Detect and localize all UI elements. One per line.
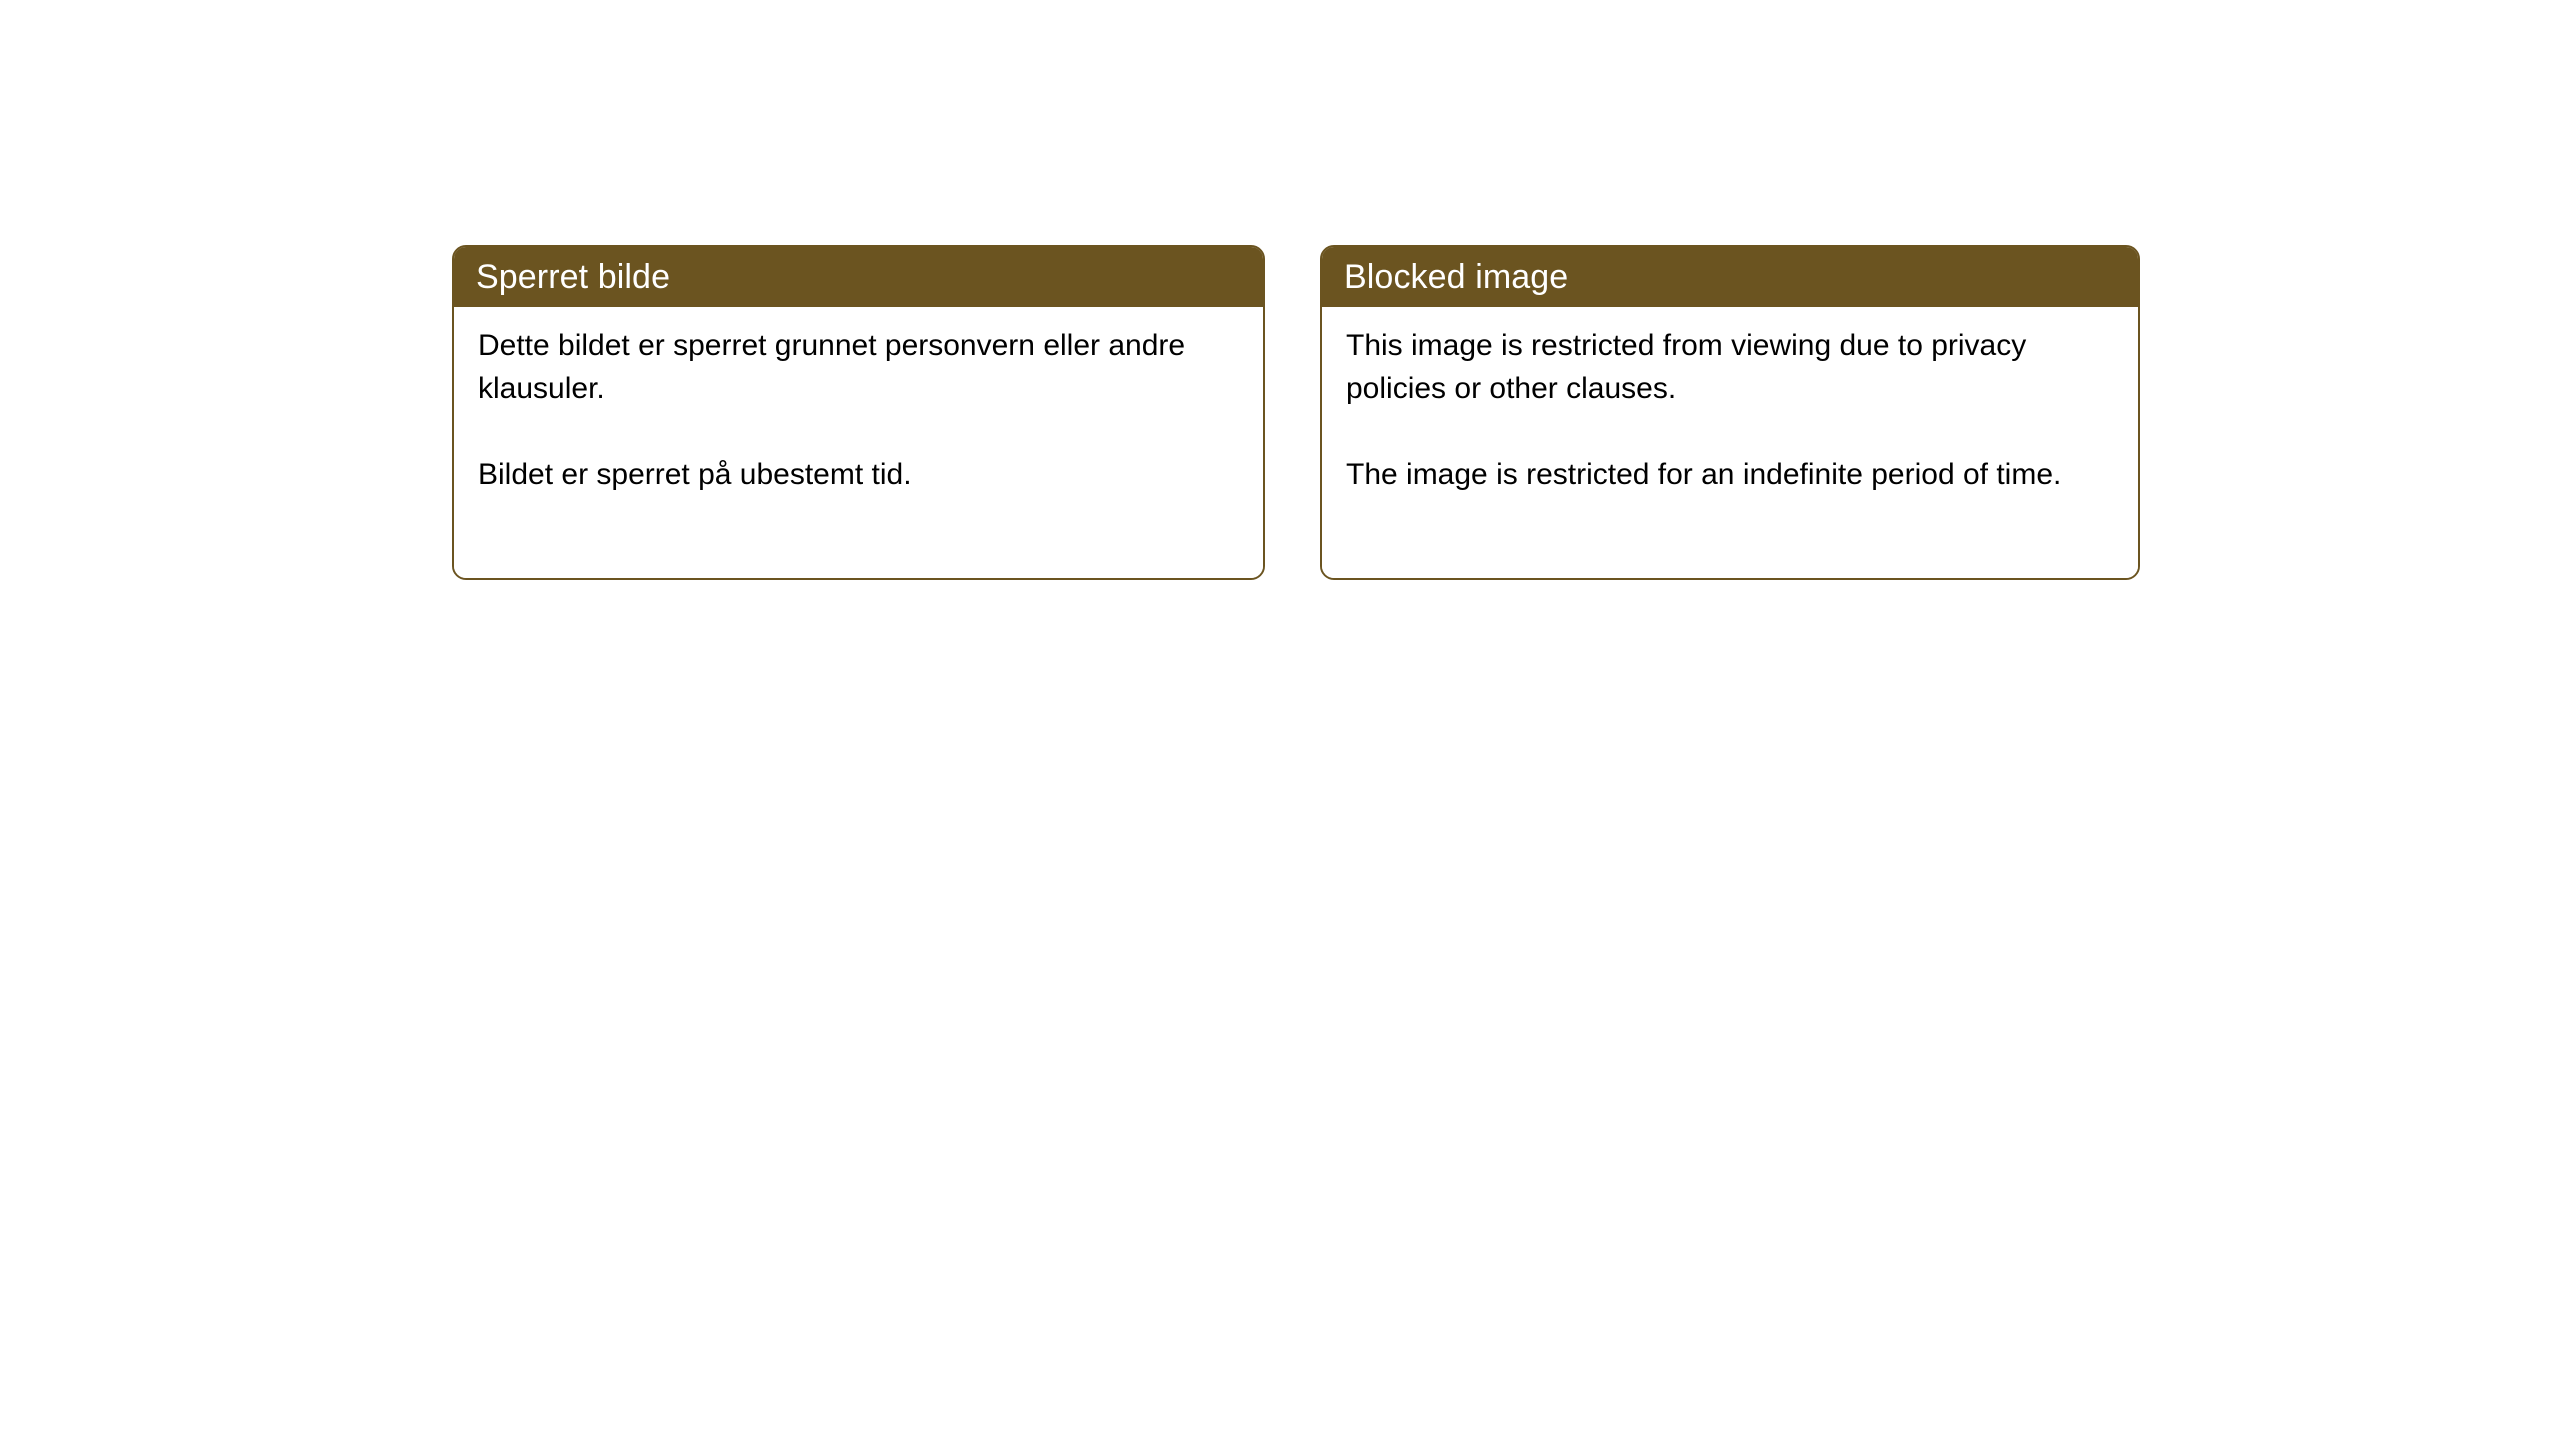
card-paragraph-norwegian-2: Bildet er sperret på ubestemt tid. xyxy=(478,453,1237,496)
blocked-image-notice-group: Sperret bilde Dette bildet er sperret gr… xyxy=(452,245,2140,580)
card-paragraph-english-1: This image is restricted from viewing du… xyxy=(1346,324,2112,410)
card-title-norwegian: Sperret bilde xyxy=(476,258,670,296)
card-body-english: This image is restricted from viewing du… xyxy=(1322,307,2138,578)
blocked-image-card-english: Blocked image This image is restricted f… xyxy=(1320,245,2140,580)
card-title-english: Blocked image xyxy=(1344,258,1568,296)
card-header-english: Blocked image xyxy=(1322,247,2138,307)
card-paragraph-norwegian-1: Dette bildet er sperret grunnet personve… xyxy=(478,324,1237,410)
card-body-norwegian: Dette bildet er sperret grunnet personve… xyxy=(454,307,1263,578)
card-header-norwegian: Sperret bilde xyxy=(454,247,1263,307)
card-paragraph-english-2: The image is restricted for an indefinit… xyxy=(1346,453,2112,496)
blocked-image-card-norwegian: Sperret bilde Dette bildet er sperret gr… xyxy=(452,245,1265,580)
